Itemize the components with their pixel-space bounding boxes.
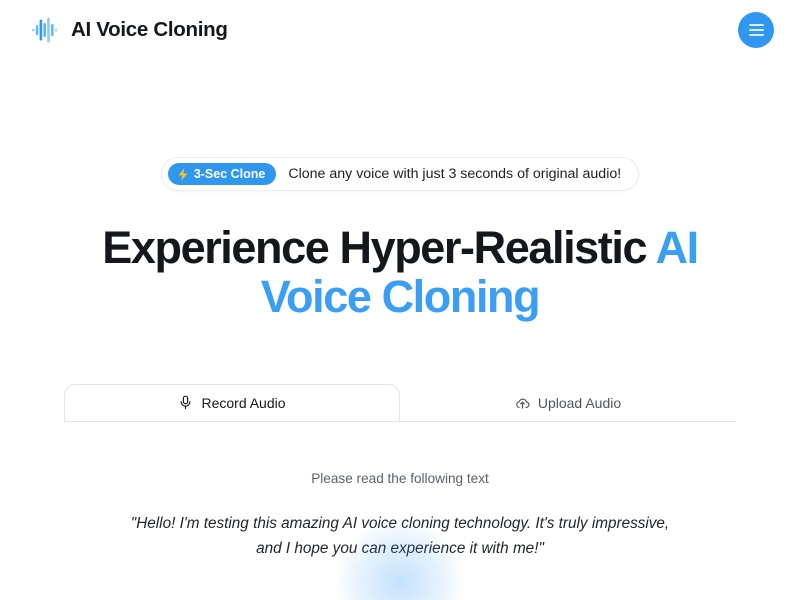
promo-tag-label: 3-Sec Clone: [194, 167, 266, 181]
promo-tag: 3-Sec Clone: [168, 163, 277, 185]
tab-record-audio-label: Record Audio: [201, 395, 285, 411]
script-quote: "Hello! I'm testing this amazing AI voic…: [130, 512, 670, 562]
hero-section: 3-Sec Clone Clone any voice with just 3 …: [0, 60, 800, 321]
cloud-upload-icon: [515, 396, 530, 411]
brand-title: AI Voice Cloning: [71, 18, 228, 42]
tab-record-audio[interactable]: Record Audio: [64, 384, 400, 421]
microphone-icon: [178, 395, 193, 410]
record-panel: Please read the following text "Hello! I…: [0, 471, 800, 562]
hamburger-menu-icon: [749, 24, 764, 26]
page-title-lead: Experience Hyper-Realistic: [102, 222, 655, 273]
tab-upload-audio[interactable]: Upload Audio: [400, 384, 736, 421]
page-title: Experience Hyper-Realistic AI Voice Clon…: [90, 224, 710, 321]
audio-waveform-icon: [30, 15, 60, 45]
tab-list: Record Audio Upload Audio: [64, 384, 736, 422]
panel-hint: Please read the following text: [64, 471, 736, 486]
tab-upload-audio-label: Upload Audio: [538, 395, 621, 411]
hamburger-menu-icon: [749, 29, 764, 31]
hamburger-menu-icon: [749, 34, 764, 36]
tabs-container: Record Audio Upload Audio: [0, 384, 800, 422]
promo-text: Clone any voice with just 3 seconds of o…: [288, 166, 621, 182]
site-header: AI Voice Cloning: [0, 0, 800, 60]
brand[interactable]: AI Voice Cloning: [30, 15, 228, 45]
hamburger-menu-button[interactable]: [738, 12, 774, 48]
promo-banner: 3-Sec Clone Clone any voice with just 3 …: [161, 157, 639, 191]
lightning-bolt-icon: [177, 168, 189, 181]
